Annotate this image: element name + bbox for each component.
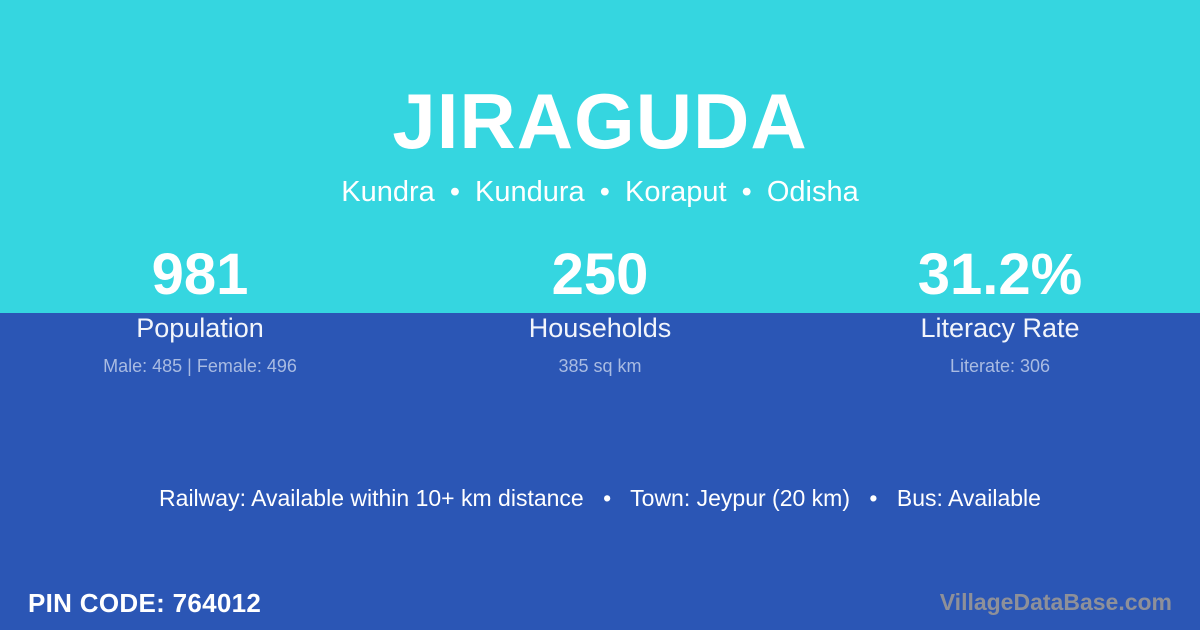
stat-label: Population xyxy=(0,315,400,342)
statistics-row: 981 Population Male: 485 | Female: 496 2… xyxy=(0,246,1200,375)
railway-info: Railway: Available within 10+ km distanc… xyxy=(159,485,584,511)
stat-literacy-rate: 31.2% Literacy Rate Literate: 306 xyxy=(800,246,1200,375)
village-info-card: JIRAGUDA Kundra • Kundura • Koraput • Od… xyxy=(0,0,1200,630)
breadcrumb: Kundra • Kundura • Koraput • Odisha xyxy=(0,178,1200,207)
bus-info: Bus: Available xyxy=(897,485,1041,511)
breadcrumb-separator: • xyxy=(443,176,467,208)
town-info: Town: Jeypur (20 km) xyxy=(630,485,850,511)
stat-label: Literacy Rate xyxy=(800,315,1200,342)
stat-value: 250 xyxy=(400,246,800,312)
transport-separator: • xyxy=(590,485,624,511)
transport-separator: • xyxy=(856,485,890,511)
card-footer: PIN CODE: 764012 VillageDataBase.com xyxy=(0,575,1200,630)
stat-sublabel: Male: 485 | Female: 496 xyxy=(0,357,400,375)
breadcrumb-separator: • xyxy=(593,176,617,208)
stat-value: 31.2% xyxy=(800,246,1200,312)
stat-population: 981 Population Male: 485 | Female: 496 xyxy=(0,246,400,375)
breadcrumb-item-block: Kundra xyxy=(341,176,435,208)
transport-info: Railway: Available within 10+ km distanc… xyxy=(0,487,1200,510)
breadcrumb-separator: • xyxy=(735,176,759,208)
breadcrumb-item-subdistrict: Kundura xyxy=(475,176,585,208)
stat-sublabel: Literate: 306 xyxy=(800,357,1200,375)
page-title: JIRAGUDA xyxy=(0,82,1200,160)
pin-code: PIN CODE: 764012 xyxy=(28,590,261,616)
stat-value: 981 xyxy=(0,246,400,312)
breadcrumb-item-state: Odisha xyxy=(767,176,859,208)
stat-label: Households xyxy=(400,315,800,342)
breadcrumb-item-district: Koraput xyxy=(625,176,727,208)
stat-households: 250 Households 385 sq km xyxy=(400,246,800,375)
site-brand: VillageDataBase.com xyxy=(940,591,1172,614)
stat-sublabel: 385 sq km xyxy=(400,357,800,375)
card-header: JIRAGUDA Kundra • Kundura • Koraput • Od… xyxy=(0,0,1200,207)
